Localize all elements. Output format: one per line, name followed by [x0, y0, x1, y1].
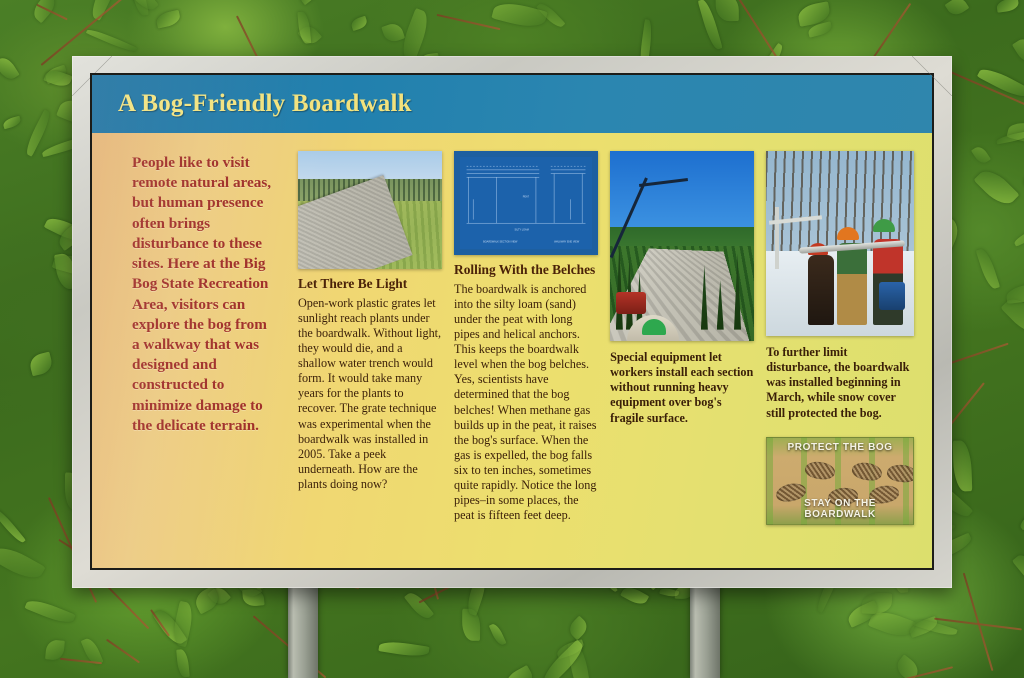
winter-construction-photo — [766, 151, 914, 336]
stay-on-the-boardwalk-text: STAY ON THE BOARDWALK — [767, 498, 913, 520]
section-body-light: Open-work plastic grates let sunlight re… — [298, 296, 442, 492]
svg-text:WALKWAY END VIEW: WALKWAY END VIEW — [554, 239, 580, 243]
sign-body: People like to visit remote natural area… — [92, 133, 932, 568]
outdoor-scene: A Bog-Friendly Boardwalk People like to … — [0, 0, 1024, 678]
boardwalk-grass-photo — [298, 151, 442, 269]
sign-title-bar: A Bog-Friendly Boardwalk — [92, 75, 932, 133]
green-hard-hat-icon — [642, 319, 666, 335]
protect-the-bog-top-text: PROTECT THE BOG — [767, 442, 913, 453]
section-heading-light: Let There Be Light — [298, 276, 442, 292]
protect-the-bog-graphic: PROTECT THE BOG STAY ON THE BOARDWALK — [766, 437, 914, 525]
summer-construction-photo — [610, 151, 754, 341]
svg-text:BOARDWALK SECTION VIEW: BOARDWALK SECTION VIEW — [483, 239, 518, 243]
blueprint-image: PEAT SILTY LOAM BOARDWALK SECTION VIEW W… — [454, 151, 598, 255]
caption-winter-install: To further limit disturbance, the boardw… — [766, 345, 914, 421]
intro-column: People like to visit remote natural area… — [106, 151, 292, 558]
page-title: A Bog-Friendly Boardwalk — [118, 90, 412, 118]
column-let-there-be-light: Let There Be Light Open-work plastic gra… — [292, 151, 450, 558]
intro-paragraph: People like to visit remote natural area… — [132, 153, 278, 436]
column-special-equipment: Special equipment let workers install ea… — [606, 151, 762, 558]
interpretive-sign-panel: A Bog-Friendly Boardwalk People like to … — [90, 73, 934, 570]
section-body-belches: The boardwalk is anchored into the silty… — [454, 282, 598, 523]
column-winter-install: To further limit disturbance, the boardw… — [762, 151, 918, 558]
sign-frame: A Bog-Friendly Boardwalk People like to … — [72, 56, 952, 588]
blueprint-drawing: PEAT SILTY LOAM BOARDWALK SECTION VIEW W… — [460, 157, 592, 249]
green-hard-hat-icon-2 — [873, 219, 895, 232]
svg-text:SILTY LOAM: SILTY LOAM — [515, 227, 529, 231]
column-rolling-with-belches: PEAT SILTY LOAM BOARDWALK SECTION VIEW W… — [450, 151, 606, 558]
section-heading-belches: Rolling With the Belches — [454, 262, 598, 278]
svg-text:PEAT: PEAT — [523, 194, 530, 198]
caption-special-equipment: Special equipment let workers install ea… — [610, 350, 754, 426]
